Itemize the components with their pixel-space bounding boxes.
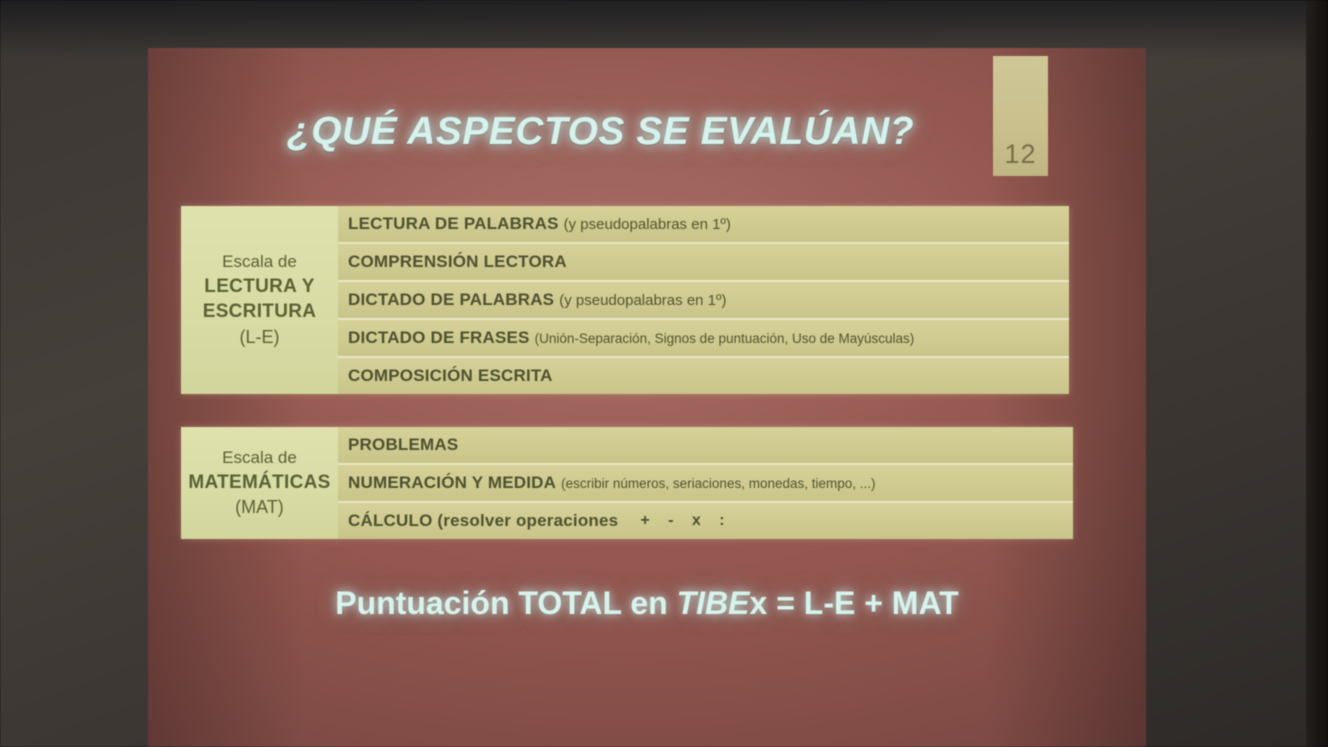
row-main-text: DICTADO DE PALABRAS bbox=[348, 290, 554, 310]
page-title: ¿QUÉ ASPECTOS SE EVALÚAN? bbox=[148, 110, 1053, 154]
scale-label-line4: (L-E) bbox=[203, 325, 317, 349]
table-rows: LECTURA DE PALABRAS (y pseudopalabras en… bbox=[338, 206, 1069, 394]
row-sub-text: (y pseudopalabras en 1º) bbox=[564, 216, 731, 233]
row-sub-text: (escribir números, seriaciones, monedas,… bbox=[561, 476, 875, 491]
row-main-text: LECTURA DE PALABRAS bbox=[348, 214, 559, 234]
scale-label-lectura-escritura: Escala de LECTURA Y ESCRITURA (L-E) bbox=[181, 206, 338, 394]
row-main-text: COMPRENSIÓN LECTORA bbox=[348, 252, 567, 272]
table-row: COMPOSICIÓN ESCRITA bbox=[338, 358, 1069, 394]
row-main-text: DICTADO DE FRASES bbox=[348, 328, 530, 348]
table-escala-matematicas: Escala de MATEMÁTICAS (MAT) PROBLEMAS NU… bbox=[181, 427, 1073, 539]
table-row: PROBLEMAS bbox=[338, 427, 1073, 465]
row-sub-text: (y pseudopalabras en 1º) bbox=[559, 292, 726, 309]
table-row: COMPRENSIÓN LECTORA bbox=[338, 244, 1069, 282]
formula-prefix: Puntuación TOTAL en bbox=[335, 585, 676, 621]
row-main-text: COMPOSICIÓN ESCRITA bbox=[348, 366, 553, 386]
scale-label-matematicas: Escala de MATEMÁTICAS (MAT) bbox=[181, 427, 338, 539]
table-row: DICTADO DE PALABRAS (y pseudopalabras en… bbox=[338, 282, 1069, 320]
row-operators: + - x : bbox=[640, 512, 731, 530]
table-rows: PROBLEMAS NUMERACIÓN Y MEDIDA (escribir … bbox=[338, 427, 1073, 539]
scale-label-line1: Escala de bbox=[203, 251, 317, 274]
table-row: DICTADO DE FRASES (Unión-Separación, Sig… bbox=[338, 320, 1069, 358]
projected-slide-photo: 12 ¿QUÉ ASPECTOS SE EVALÚAN? Escala de L… bbox=[0, 0, 1328, 747]
slide-canvas: 12 ¿QUÉ ASPECTOS SE EVALÚAN? Escala de L… bbox=[148, 48, 1146, 747]
table-escala-lectura-escritura: Escala de LECTURA Y ESCRITURA (L-E) LECT… bbox=[181, 206, 1069, 394]
scale-label-line1: Escala de bbox=[188, 447, 330, 470]
table-row: LECTURA DE PALABRAS (y pseudopalabras en… bbox=[338, 206, 1069, 244]
scale-label-line2: LECTURA Y bbox=[203, 274, 317, 300]
table-row: NUMERACIÓN Y MEDIDA (escribir números, s… bbox=[338, 465, 1073, 503]
row-sub-text: (Unión-Separación, Signos de puntuación,… bbox=[535, 331, 915, 346]
wall-strip-right bbox=[1306, 0, 1328, 747]
scale-label-line4: (MAT) bbox=[188, 495, 330, 519]
row-main-text: NUMERACIÓN Y MEDIDA bbox=[348, 473, 556, 493]
row-main-text: PROBLEMAS bbox=[348, 435, 458, 455]
total-score-formula: Puntuación TOTAL en TIBEx = L-E + MAT bbox=[148, 585, 1146, 622]
table-row: CÁLCULO (resolver operaciones + - x : bbox=[338, 503, 1073, 539]
formula-italic: TIBE bbox=[677, 585, 750, 621]
scale-label-line3: ESCRITURA bbox=[203, 299, 317, 325]
row-main-text: CÁLCULO (resolver operaciones bbox=[348, 511, 618, 531]
formula-suffix: x = L-E + MAT bbox=[750, 585, 959, 621]
scale-label-line2: MATEMÁTICAS bbox=[188, 470, 330, 496]
